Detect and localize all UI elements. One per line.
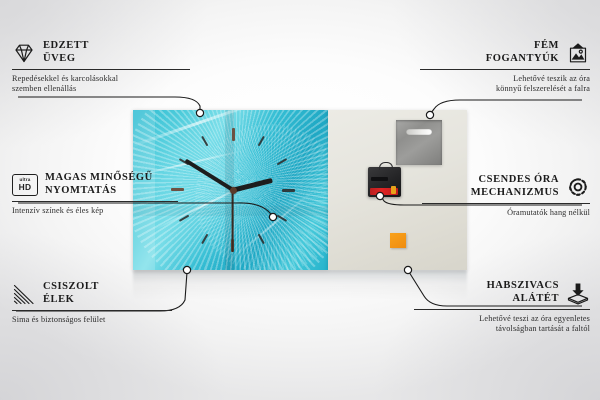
callout-head: FÉM FOGANTYÚK xyxy=(420,40,590,65)
callout-divider xyxy=(422,203,590,204)
callout-desc-line1: Óramutatók hang nélkül xyxy=(422,208,590,219)
callout-divider xyxy=(12,69,190,70)
callout-title-line2: FOGANTYÚK xyxy=(486,53,559,66)
callout-title-line1: HABSZIVACS xyxy=(487,280,559,293)
callout-desc-line1: Lehetővé teszi az óra egyenletes xyxy=(414,314,590,325)
clock-tick-12 xyxy=(232,128,234,190)
callout-metal-handles: FÉM FOGANTYÚK Lehetővé teszik az óra kön… xyxy=(420,40,590,95)
callout-title-line2: ÉLEK xyxy=(43,294,99,307)
clock-center-cap xyxy=(230,187,237,194)
callout-title: EDZETT ÜVEG xyxy=(43,40,89,65)
clock-second-hand xyxy=(232,190,234,252)
callout-title-line2: ÜVEG xyxy=(43,53,89,66)
callout-divider xyxy=(12,310,172,311)
foam-pad-icon xyxy=(566,282,590,304)
leader-glass xyxy=(18,97,200,111)
picture-hanger-icon xyxy=(566,42,590,64)
callout-divider xyxy=(414,309,590,310)
callout-head: CSENDES ÓRA MECHANIZMUS xyxy=(422,174,590,199)
callout-head: HABSZIVACS ALÁTÉT xyxy=(414,280,590,305)
callout-desc-line2: szemben ellenállás xyxy=(12,84,190,95)
callout-desc-line1: Intenzív színek és éles kép xyxy=(12,206,178,217)
clock-tick-9 xyxy=(171,189,233,191)
clock-minute-hand xyxy=(184,159,234,192)
hd-badge-large: HD xyxy=(19,183,32,191)
metal-hanger-part xyxy=(396,120,442,165)
callout-title-line2: MECHANIZMUS xyxy=(471,187,559,200)
callout-head: EDZETT ÜVEG xyxy=(12,40,190,65)
mechanism-slot xyxy=(371,177,388,181)
callout-polished-edges: CSISZOLT ÉLEK Sima és biztonságos felüle… xyxy=(12,281,172,325)
polished-edges-icon xyxy=(12,283,36,305)
battery-terminal xyxy=(391,186,396,194)
callout-title-line1: CSISZOLT xyxy=(43,281,99,294)
callout-title: CSENDES ÓRA MECHANIZMUS xyxy=(471,174,559,199)
infographic-canvas: EDZETT ÜVEG Repedésekkel és karcolásokka… xyxy=(0,0,600,400)
callout-quiet-mechanism: CSENDES ÓRA MECHANIZMUS Óramutatók hang … xyxy=(422,174,590,218)
callout-desc-line1: Lehetővé teszik az óra xyxy=(420,74,590,85)
callout-title-line1: CSENDES ÓRA xyxy=(471,174,559,187)
callout-title-line1: FÉM xyxy=(486,40,559,53)
mechanism-loop xyxy=(379,162,393,170)
callout-title-line1: EDZETT xyxy=(43,40,89,53)
foam-pad-part xyxy=(390,233,406,248)
callout-title-line1: MAGAS MINŐSÉGŰ xyxy=(45,172,153,185)
clock-tick-8 xyxy=(179,189,234,222)
callout-title: HABSZIVACS ALÁTÉT xyxy=(487,280,559,305)
callout-title: FÉM FOGANTYÚK xyxy=(486,40,559,65)
callout-title: MAGAS MINŐSÉGŰ NYOMTATÁS xyxy=(45,172,153,197)
diamond-icon xyxy=(12,42,36,64)
mechanism-battery xyxy=(370,188,398,195)
callout-desc-line1: Repedésekkel és karcolásokkal xyxy=(12,74,190,85)
callout-head: ultra HD MAGAS MINŐSÉGŰ NYOMTATÁS xyxy=(12,172,178,197)
callout-desc-line2: könnyű felszerelését a falra xyxy=(420,84,590,95)
callout-tempered-glass: EDZETT ÜVEG Repedésekkel és karcolásokka… xyxy=(12,40,190,95)
gear-icon xyxy=(566,176,590,198)
clock-mechanism-part xyxy=(368,167,401,197)
callout-desc-line2: távolságban tartását a faltól xyxy=(414,324,590,335)
callout-divider xyxy=(420,69,590,70)
callout-desc-line1: Sima és biztonságos felület xyxy=(12,315,172,326)
hanger-slot xyxy=(406,129,432,135)
callout-title-line2: NYOMTATÁS xyxy=(45,185,153,198)
callout-divider xyxy=(12,201,178,202)
callout-foam-backing: HABSZIVACS ALÁTÉT Lehetővé teszi az óra … xyxy=(414,280,590,335)
callout-title-line2: ALÁTÉT xyxy=(487,293,559,306)
callout-high-quality-print: ultra HD MAGAS MINŐSÉGŰ NYOMTATÁS Intenz… xyxy=(12,172,178,216)
clock-dial xyxy=(163,120,303,260)
callout-head: CSISZOLT ÉLEK xyxy=(12,281,172,306)
callout-title: CSISZOLT ÉLEK xyxy=(43,281,99,306)
ultra-hd-icon: ultra HD xyxy=(12,174,38,196)
product-image xyxy=(133,110,467,270)
